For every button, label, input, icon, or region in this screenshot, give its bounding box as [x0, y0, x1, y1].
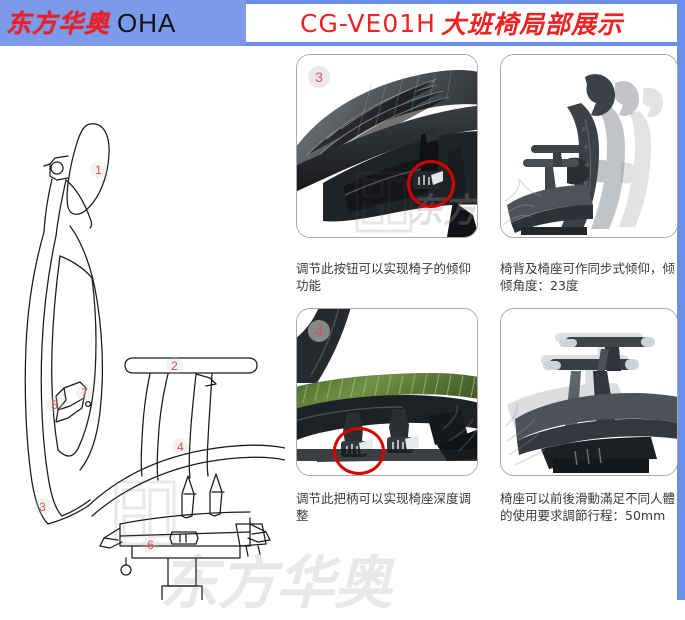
panel-synchro-tilt — [500, 54, 678, 238]
page-title-cn: 大班椅局部展示 — [441, 5, 623, 41]
callout-5: 5 — [46, 396, 63, 413]
caption-seat-depth-lever: 调节此把柄可以实现椅座深度调整 — [296, 490, 478, 524]
panel-watermark-seal-icon — [353, 169, 415, 235]
highlight-circle-lever — [333, 427, 385, 475]
page-title-model: CG-VE01H — [300, 9, 436, 38]
caption-tilt-knob: 调节此按钮可以实现椅子的倾仰功能 — [296, 260, 478, 294]
panel-seat-slide — [500, 308, 678, 476]
callout-1: 1 — [90, 161, 107, 178]
page-title: CG-VE01H 大班椅局部展示 — [246, 4, 677, 42]
brand-logo-en: OHA — [117, 8, 176, 39]
callout-2: 2 — [166, 357, 183, 374]
panel-seat-depth-lever: 4 — [296, 308, 478, 476]
panel-seat-slide-photo — [501, 309, 677, 475]
panel-synchro-tilt-photo — [501, 55, 677, 237]
panel-badge-3: 3 — [308, 66, 330, 88]
panel-tilt-knob: 东方华奥 3 — [296, 54, 478, 238]
callout-6: 6 — [142, 536, 159, 553]
callout-7: 7 — [76, 384, 93, 401]
callout-4: 4 — [172, 438, 189, 455]
panel-badge-4: 4 — [308, 320, 330, 342]
highlight-circle-knob — [407, 160, 455, 208]
caption-seat-slide: 椅座可以前後滑動滿足不同人體的使用要求調節行程：50mm — [500, 490, 682, 524]
brand-logo: 东方华奥 OHA — [0, 0, 246, 46]
brand-logo-cn: 东方华奥 — [6, 11, 110, 36]
page-header: 东方华奥 OHA CG-VE01H 大班椅局部展示 — [0, 0, 685, 46]
callout-3: 3 — [34, 498, 51, 515]
tilt-sequence-art — [501, 55, 678, 238]
caption-synchro-tilt: 椅背及椅座可作同步式倾仰，倾倾角度：23度 — [500, 260, 680, 294]
product-spec-sheet: 东方华奥 OHA CG-VE01H 大班椅局部展示 — [0, 0, 685, 600]
seat-slide-art — [501, 309, 678, 476]
chair-diagram: 东方华奥 1 2 3 4 5 6 7 — [0, 46, 285, 600]
